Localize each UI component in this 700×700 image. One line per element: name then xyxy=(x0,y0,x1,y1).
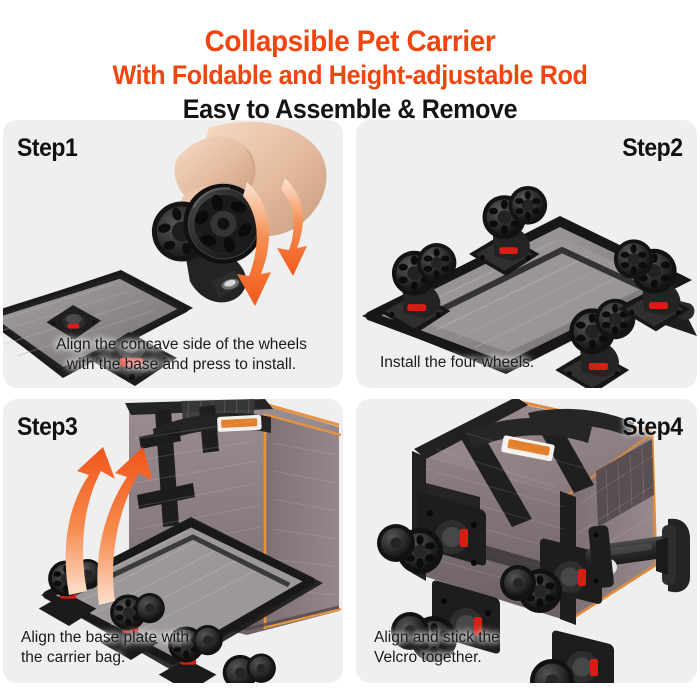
step-panel-1: Step1 Align the concave side of the whee… xyxy=(3,120,343,388)
page-tagline: Easy to Assemble & Remove xyxy=(25,89,676,123)
step-label-3: Step3 xyxy=(17,413,77,442)
step-caption-4-line1: Align and stick the xyxy=(374,628,604,647)
step-panel-2: Step2 Install the four wheels. xyxy=(356,120,697,388)
infographic-sheet: Collapsible Pet Carrier With Foldable an… xyxy=(0,0,700,700)
step-label-2: Step2 xyxy=(623,134,683,163)
step-caption-1: Align the concave side of the wheels wit… xyxy=(29,335,334,374)
step-caption-4: Align and stick the Velcro together. xyxy=(374,628,604,667)
step-label-1: Step1 xyxy=(17,134,77,163)
header: Collapsible Pet Carrier With Foldable an… xyxy=(0,0,700,118)
page-subtitle: With Foldable and Height-adjustable Rod xyxy=(25,57,676,89)
step-caption-3-line1: Align the base plate with xyxy=(21,628,241,647)
step-panel-3: Step3 Align the base plate with the carr… xyxy=(3,399,343,683)
step-caption-4-line2: Velcro together. xyxy=(374,648,604,667)
step-caption-3-line2: the carrier bag. xyxy=(21,648,241,667)
step-caption-2-line1: Install the four wheels. xyxy=(380,353,680,372)
step-caption-1-line1: Align the concave side of the wheels xyxy=(29,335,334,354)
step-caption-2: Install the four wheels. xyxy=(380,353,680,372)
step-caption-3: Align the base plate with the carrier ba… xyxy=(21,628,241,667)
step-caption-1-line2: with the base and press to install. xyxy=(29,355,334,374)
step-label-4: Step4 xyxy=(623,413,683,442)
step-panel-4: Step4 Align and stick the Velcro togethe… xyxy=(356,399,697,683)
page-title: Collapsible Pet Carrier xyxy=(25,0,676,57)
